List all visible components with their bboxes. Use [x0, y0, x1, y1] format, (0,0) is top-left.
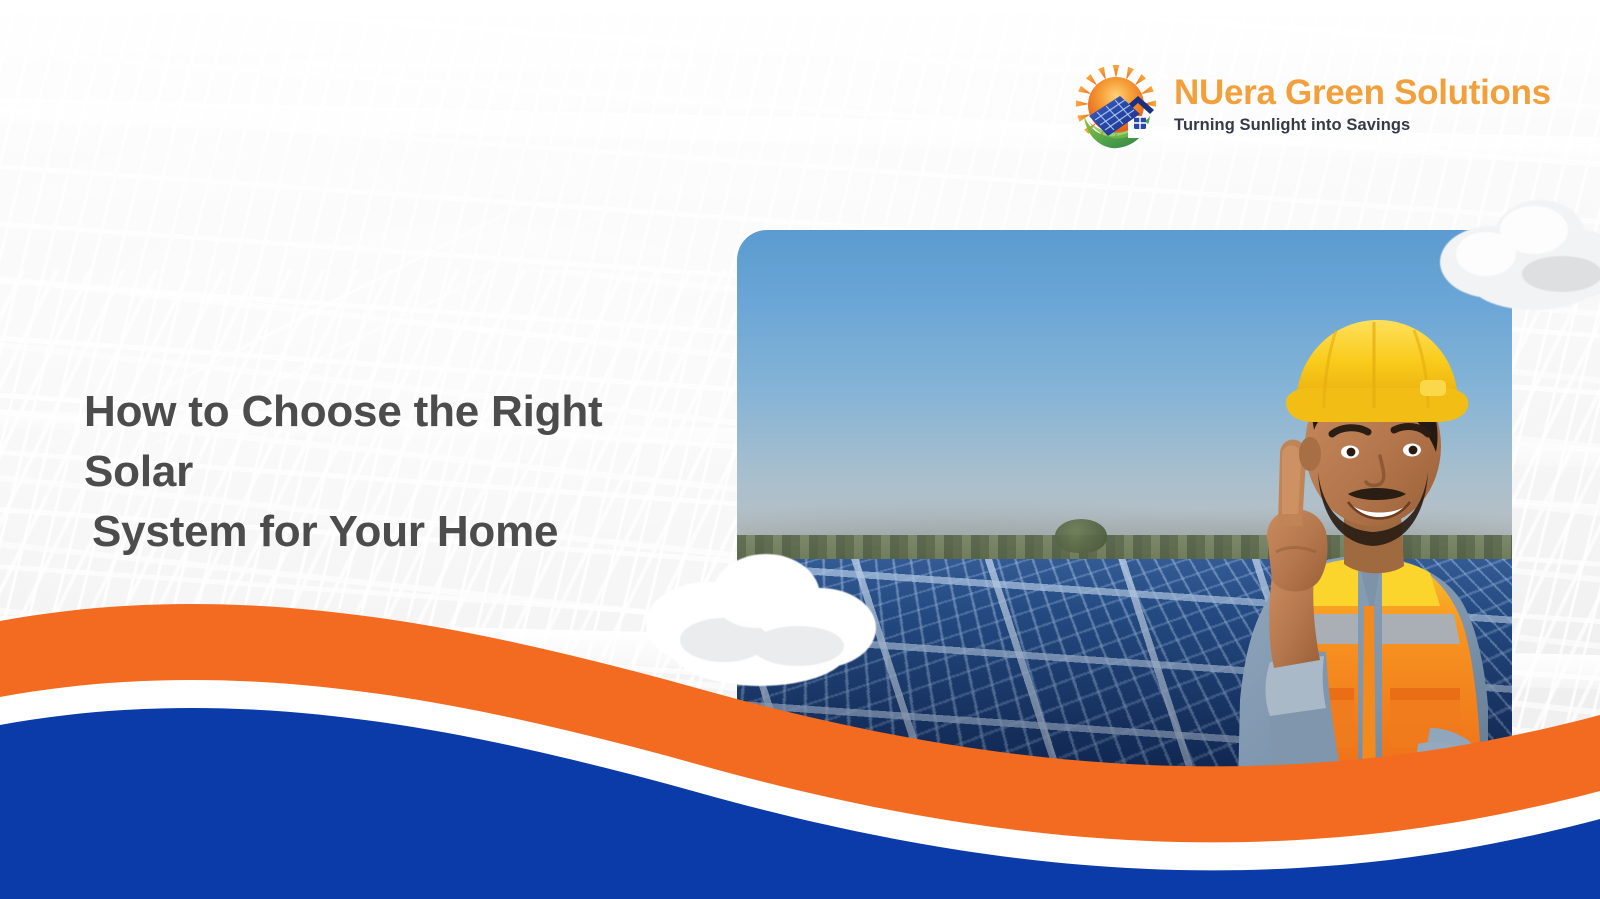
brand-tagline: Turning Sunlight into Savings [1174, 115, 1551, 136]
headline-line-2: System for Your Home [84, 502, 704, 562]
brand-name: NUera Green Solutions [1174, 75, 1551, 112]
bottom-wave-decoration [0, 569, 1600, 899]
headline-line-1: How to Choose the Right Solar [84, 387, 602, 496]
brand-text-block: NUera Green Solutions Turning Sunlight i… [1174, 75, 1551, 136]
photo-tree [1055, 519, 1107, 553]
banner-root: How to Choose the Right Solar System for… [0, 0, 1600, 899]
brand-logo-lockup[interactable]: NUera Green Solutions Turning Sunlight i… [1070, 62, 1551, 150]
sun-house-leaf-logo-icon [1070, 62, 1162, 150]
